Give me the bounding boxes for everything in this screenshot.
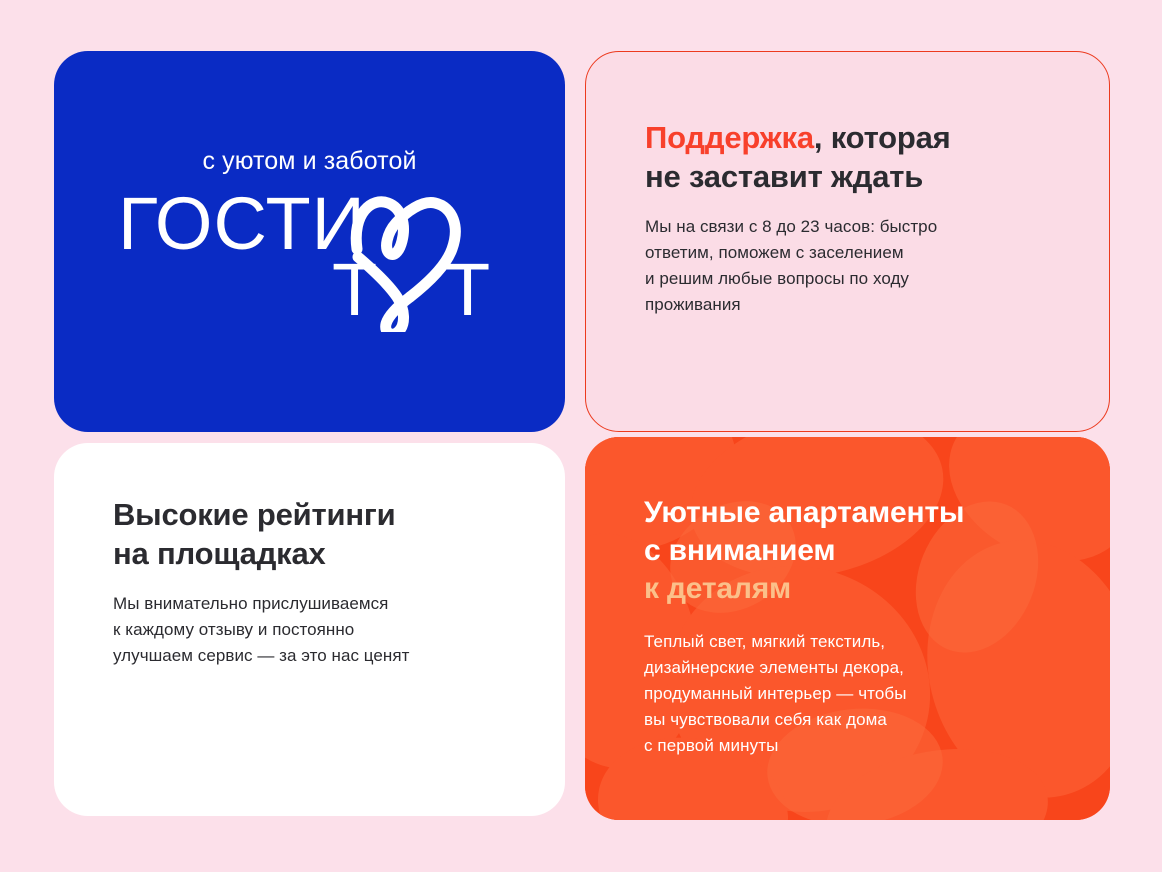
support-body-line: Мы на связи с 8 до 23 часов: быстро	[645, 214, 1065, 240]
card-ratings: Высокие рейтинги на площадках Мы внимате…	[54, 443, 565, 816]
apartments-body-line: Теплый свет, мягкий текстиль,	[644, 629, 1076, 655]
promo-board: с уютом и заботой ГОСТИ Т Т	[0, 0, 1162, 872]
logo-text-gosti: ГОСТИ	[118, 187, 366, 265]
support-heading-line-2: не заставит ждать	[645, 157, 1065, 196]
apartments-heading: Уютные апартаменты с вниманием к деталям	[644, 494, 1076, 607]
apartments-heading-line-2: с вниманием	[644, 532, 1076, 570]
support-heading-rest: , которая	[814, 120, 951, 155]
support-body: Мы на связи с 8 до 23 часов: быстро отве…	[645, 214, 1065, 318]
ratings-heading: Высокие рейтинги на площадках	[113, 495, 525, 573]
apartments-body: Теплый свет, мягкий текстиль, дизайнерск…	[644, 629, 1076, 759]
ratings-heading-line-1: Высокие рейтинги	[113, 495, 525, 534]
apartments-body-line: дизайнерские элементы декора,	[644, 655, 1076, 681]
apartments-heading-accent: к деталям	[644, 570, 1076, 608]
ratings-heading-line-2: на площадках	[113, 534, 525, 573]
support-body-line: и решим любые вопросы по ходу	[645, 266, 1065, 292]
ratings-body: Мы внимательно прислушиваемся к каждому …	[113, 591, 525, 669]
apartments-body-line: продуманный интерьер — чтобы	[644, 681, 1076, 707]
support-body-line: проживания	[645, 292, 1065, 318]
brand-tagline: с уютом и заботой	[202, 149, 416, 174]
apartments-heading-line-1: Уютные апартаменты	[644, 494, 1076, 532]
logo-text-tut-left: Т	[332, 248, 378, 331]
brand-logotype: ГОСТИ Т Т	[110, 187, 510, 332]
ratings-body-line: Мы внимательно прислушиваемся	[113, 591, 525, 617]
support-body-line: ответим, поможем с заселением	[645, 240, 1065, 266]
apartments-body-line: вы чувствовали себя как дома	[644, 707, 1076, 733]
card-brand-logo: с уютом и заботой ГОСТИ Т Т	[54, 51, 565, 432]
apartments-body-line: с первой минуты	[644, 733, 1076, 759]
ratings-body-line: улучшаем сервис — за это нас ценят	[113, 643, 525, 669]
support-heading: Поддержка, которая не заставит ждать	[645, 118, 1065, 196]
card-apartments: Уютные апартаменты с вниманием к деталям…	[585, 437, 1110, 820]
logo-block: с уютом и заботой ГОСТИ Т Т	[110, 149, 510, 332]
card-support: Поддержка, которая не заставит ждать Мы …	[585, 51, 1110, 432]
support-heading-accent: Поддержка	[645, 120, 814, 155]
ratings-body-line: к каждому отзыву и постоянно	[113, 617, 525, 643]
logo-text-tut-right: Т	[445, 248, 491, 331]
